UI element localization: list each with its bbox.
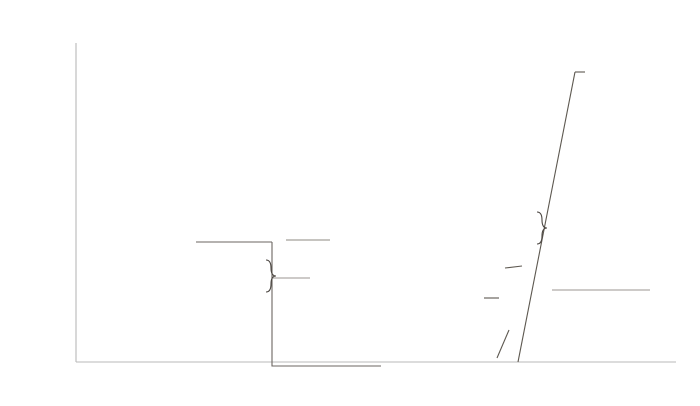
annotation-leader-lines bbox=[196, 72, 650, 366]
chart-container bbox=[0, 0, 700, 406]
plot-area bbox=[0, 0, 700, 406]
axis-lines bbox=[76, 43, 676, 362]
